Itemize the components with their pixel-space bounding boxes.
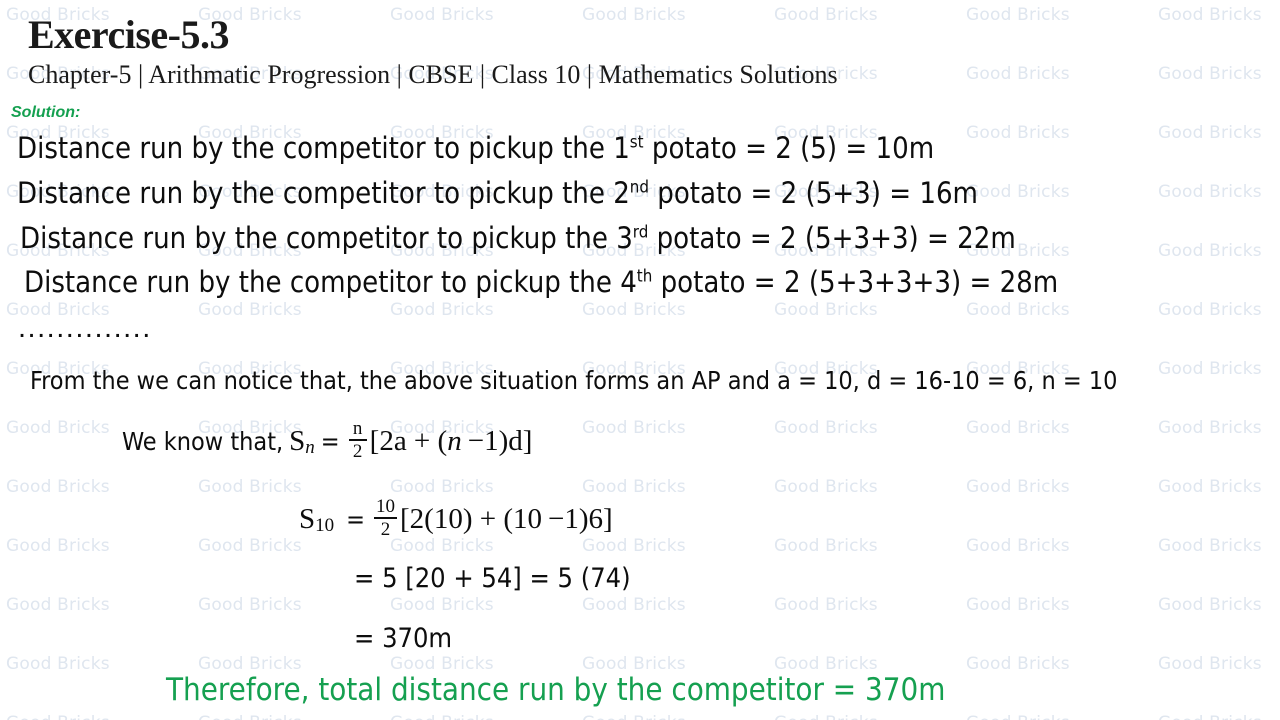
step-4-ordinal: 4	[620, 265, 637, 299]
step-1-ordinal: 1	[613, 131, 630, 165]
simplify-line: = 5 [20 + 54] = 5 (74)	[354, 563, 631, 594]
formula-bracket-open: [2a + (	[370, 425, 448, 458]
formula-bracket-close: 1)d]	[484, 425, 532, 458]
substitution-frac-denominator: 2	[379, 519, 393, 539]
formula-fraction: n 2	[349, 419, 367, 461]
formula-equals: =	[321, 427, 340, 456]
step-2-ordinal-suffix: nd	[630, 176, 649, 196]
substitution-minus: −	[548, 503, 564, 536]
step-2-prefix: Distance run by the competitor to pickup…	[17, 176, 613, 210]
slide-content: Exercise-5.3 Chapter-5 | Arithmatic Prog…	[0, 0, 1280, 720]
formula-line: We know that, Sn = n 2 [2a + (n− 1)d]	[122, 420, 532, 462]
formula-frac-numerator: n	[351, 419, 365, 439]
step-1-ordinal-suffix: st	[630, 131, 644, 151]
step-4-suffix: potato = 2 (5+3+3+3) = 28m	[652, 265, 1058, 299]
result-line: = 370m	[354, 623, 452, 654]
formula-s-symbol: S	[289, 425, 305, 458]
substitution-s10: S10	[299, 503, 334, 536]
substitution-s-subscript: 10	[315, 515, 334, 537]
step-line-1: Distance run by the competitor to pickup…	[17, 131, 934, 165]
step-3-ordinal: 3	[616, 221, 633, 255]
step-3-suffix: potato = 2 (5+3+3) = 22m	[648, 221, 1015, 255]
formula-frac-denominator: 2	[351, 441, 365, 461]
formula-sn: Sn	[289, 425, 315, 458]
step-2-ordinal: 2	[613, 176, 630, 210]
substitution-equals: =	[346, 505, 365, 534]
substitution-s-symbol: S	[299, 503, 315, 536]
formula-minus: −	[468, 425, 484, 458]
formula-lead: We know that,	[122, 427, 283, 456]
step-3-prefix: Distance run by the competitor to pickup…	[20, 221, 616, 255]
formula-var-n: n	[447, 425, 462, 458]
step-4-prefix: Distance run by the competitor to pickup…	[24, 265, 620, 299]
substitution-bracket-close: 1)6]	[564, 503, 612, 536]
solution-label: Solution:	[11, 104, 80, 122]
substitution-fraction: 10 2	[374, 497, 397, 539]
substitution-frac-numerator: 10	[374, 497, 397, 517]
observation-line: From the we can notice that, the above s…	[30, 366, 1117, 395]
substitution-line: S10 = 10 2 [2(10) + (10− 1)6]	[299, 498, 613, 540]
step-1-suffix: potato = 2 (5) = 10m	[644, 131, 935, 165]
page-subtitle: Chapter-5 | Arithmatic Progression | CBS…	[28, 60, 838, 90]
substitution-bracket-open: [2(10) + (10	[400, 503, 542, 536]
step-line-3: Distance run by the competitor to pickup…	[20, 221, 1016, 255]
conclusion-line: Therefore, total distance run by the com…	[166, 672, 945, 708]
step-line-2: Distance run by the competitor to pickup…	[17, 176, 978, 210]
slide-page: Good BricksGood BricksGood BricksGood Br…	[0, 0, 1280, 720]
page-title: Exercise-5.3	[28, 11, 229, 58]
ellipsis-line: ..............	[18, 312, 152, 345]
step-4-ordinal-suffix: th	[637, 265, 653, 285]
step-2-suffix: potato = 2 (5+3) = 16m	[649, 176, 978, 210]
step-3-ordinal-suffix: rd	[633, 221, 649, 241]
step-1-prefix: Distance run by the competitor to pickup…	[17, 131, 613, 165]
step-line-4: Distance run by the competitor to pickup…	[24, 265, 1058, 299]
